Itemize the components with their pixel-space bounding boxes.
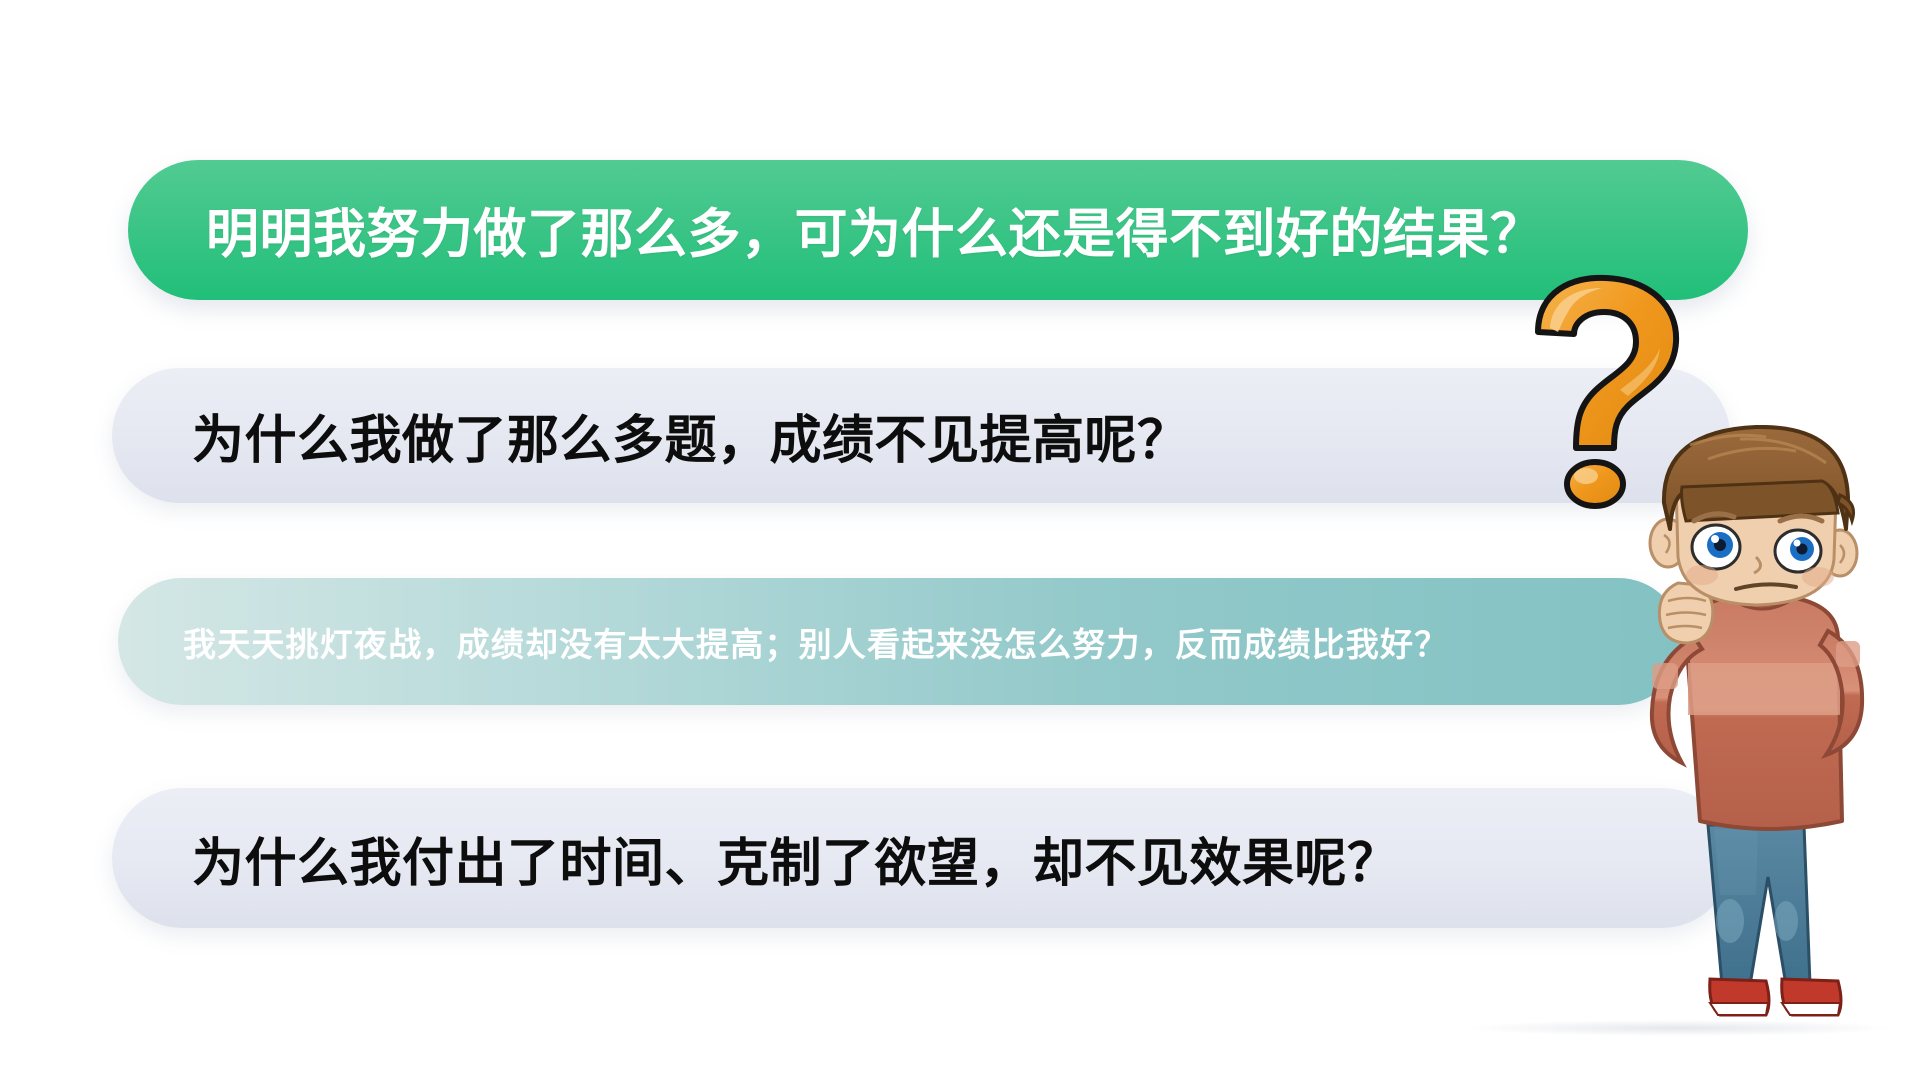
message-bar-4-text: 为什么我付出了时间、克制了欲望，却不见效果呢？: [112, 821, 1400, 896]
slide-canvas: 明明我努力做了那么多，可为什么还是得不到好的结果？ 为什么我做了那么多题，成绩不…: [0, 0, 1920, 1080]
message-bar-3: 我天天挑灯夜战，成绩却没有太大提高；别人看起来没怎么努力，反而成绩比我好？: [118, 578, 1682, 705]
message-bar-3-text: 我天天挑灯夜战，成绩却没有太大提高；别人看起来没怎么努力，反而成绩比我好？: [118, 618, 1448, 666]
illustration-group: [1480, 270, 1920, 1080]
message-bar-1-text: 明明我努力做了那么多，可为什么还是得不到好的结果？: [128, 192, 1544, 268]
thinking-boy-illustration: [1590, 425, 1920, 1080]
message-bar-2-text: 为什么我做了那么多题，成绩不见提高呢？: [112, 398, 1190, 473]
